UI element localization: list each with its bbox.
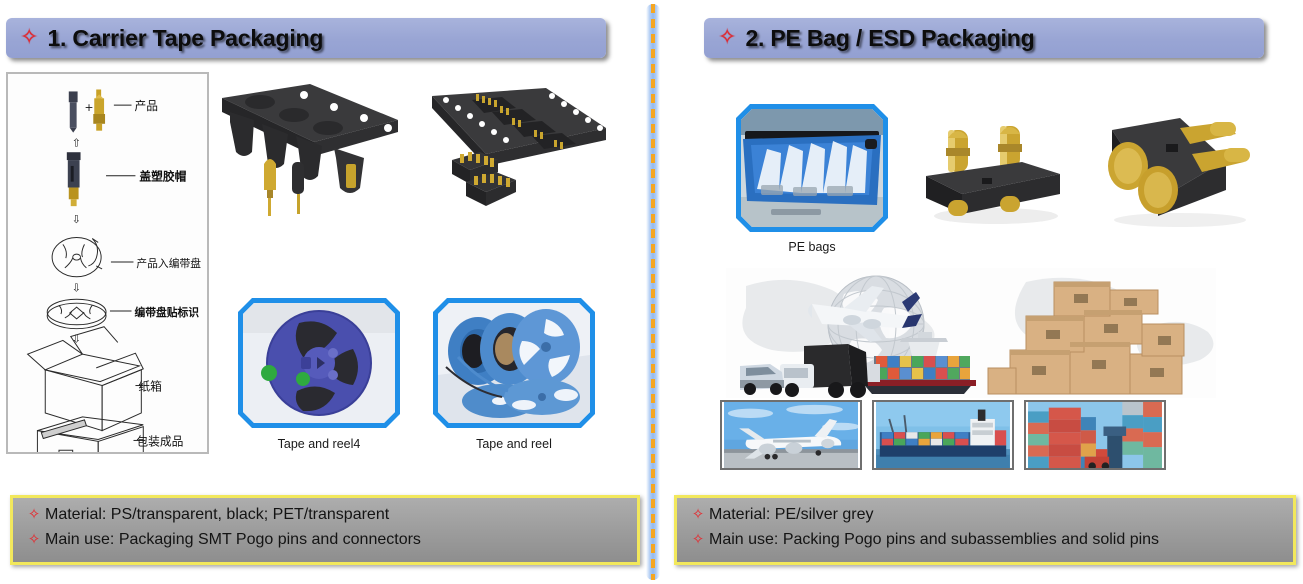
caption-tape-and-reel: Tape and reel [433,437,595,451]
image-carrier-tape-tray-connector-pockets [424,76,614,222]
svg-text:⇧: ⇧ [72,137,81,149]
star-icon: ✧ [23,505,45,525]
vertical-dashed-divider [646,4,660,580]
panel-header-carrier-tape: ✧ 1. Carrier Tape Packaging [6,18,606,58]
star-icon: ✧ [23,530,45,550]
image-global-logistics-collage [726,268,1216,398]
svg-text:产品入编带盘: 产品入编带盘 [136,257,201,270]
image-pogo-pin-connector-2pin-side [1084,104,1264,234]
star-icon: ✧ [687,505,709,525]
note-text: Material: PS/transparent, black; PET/tra… [45,505,389,525]
image-container-yard-photo [1024,400,1166,470]
panel-header-pe-bag-esd: ✧ 2. PE Bag / ESD Packaging [704,18,1264,58]
svg-text:包装成品: 包装成品 [136,434,183,448]
svg-text:编带盘贴标识: 编带盘贴标识 [134,306,199,319]
image-pogo-pin-connector-2pin-upright [910,104,1076,234]
note-box-pe-bag-esd: ✧ Material: PE/silver grey ✧ Main use: P… [674,495,1296,565]
note-box-carrier-tape: ✧ Material: PS/transparent, black; PET/t… [10,495,640,565]
image-container-ship-photo [872,400,1014,470]
note-bullet-material: ✧ Material: PS/transparent, black; PET/t… [23,505,627,525]
star-icon: ✧ [20,26,38,48]
note-text: Main use: Packing Pogo pins and subassem… [709,530,1159,550]
panel-pe-bag-esd: ✧ 2. PE Bag / ESD Packaging [666,0,1303,584]
svg-text:+: + [84,101,93,114]
image-frame-pe-bags [736,104,888,232]
caption-tape-and-reel4: Tape and reel4 [238,437,400,451]
slide-root: ✧ 1. Carrier Tape Packaging + [0,0,1303,584]
image-frame-blue-tape-reel-single [238,298,400,428]
image-carrier-tape-tray-round-pockets [222,76,414,222]
packaging-flow-diagram: + 产品 ⇧ [6,72,209,454]
image-blue-tape-reels-group [438,303,590,423]
star-icon: ✧ [687,530,709,550]
note-bullet-main-use: ✧ Main use: Packaging SMT Pogo pins and … [23,530,627,550]
image-pe-bags-in-blue-bin [741,109,883,227]
svg-text:⇩: ⇩ [72,214,81,226]
divider-dash-line [651,4,655,580]
image-frame-blue-tape-reels-group [433,298,595,428]
svg-text:纸箱: 纸箱 [138,379,162,393]
note-bullet-main-use: ✧ Main use: Packing Pogo pins and subass… [687,530,1283,550]
svg-text:⇩: ⇩ [72,282,81,294]
note-bullet-material: ✧ Material: PE/silver grey [687,505,1283,525]
svg-text:产品: 产品 [134,99,158,113]
note-text: Main use: Packaging SMT Pogo pins and co… [45,530,421,550]
caption-pe-bags: PE bags [736,240,888,254]
panel-title: 2. PE Bag / ESD Packaging [745,25,1034,52]
star-icon: ✧ [718,26,736,48]
svg-text:盖塑胶帽: 盖塑胶帽 [139,170,186,184]
note-text: Material: PE/silver grey [709,505,874,525]
panel-title: 1. Carrier Tape Packaging [47,25,323,52]
panel-carrier-tape: ✧ 1. Carrier Tape Packaging + [0,0,640,584]
image-cargo-airplane-photo [720,400,862,470]
image-blue-tape-reel-single [243,303,395,423]
